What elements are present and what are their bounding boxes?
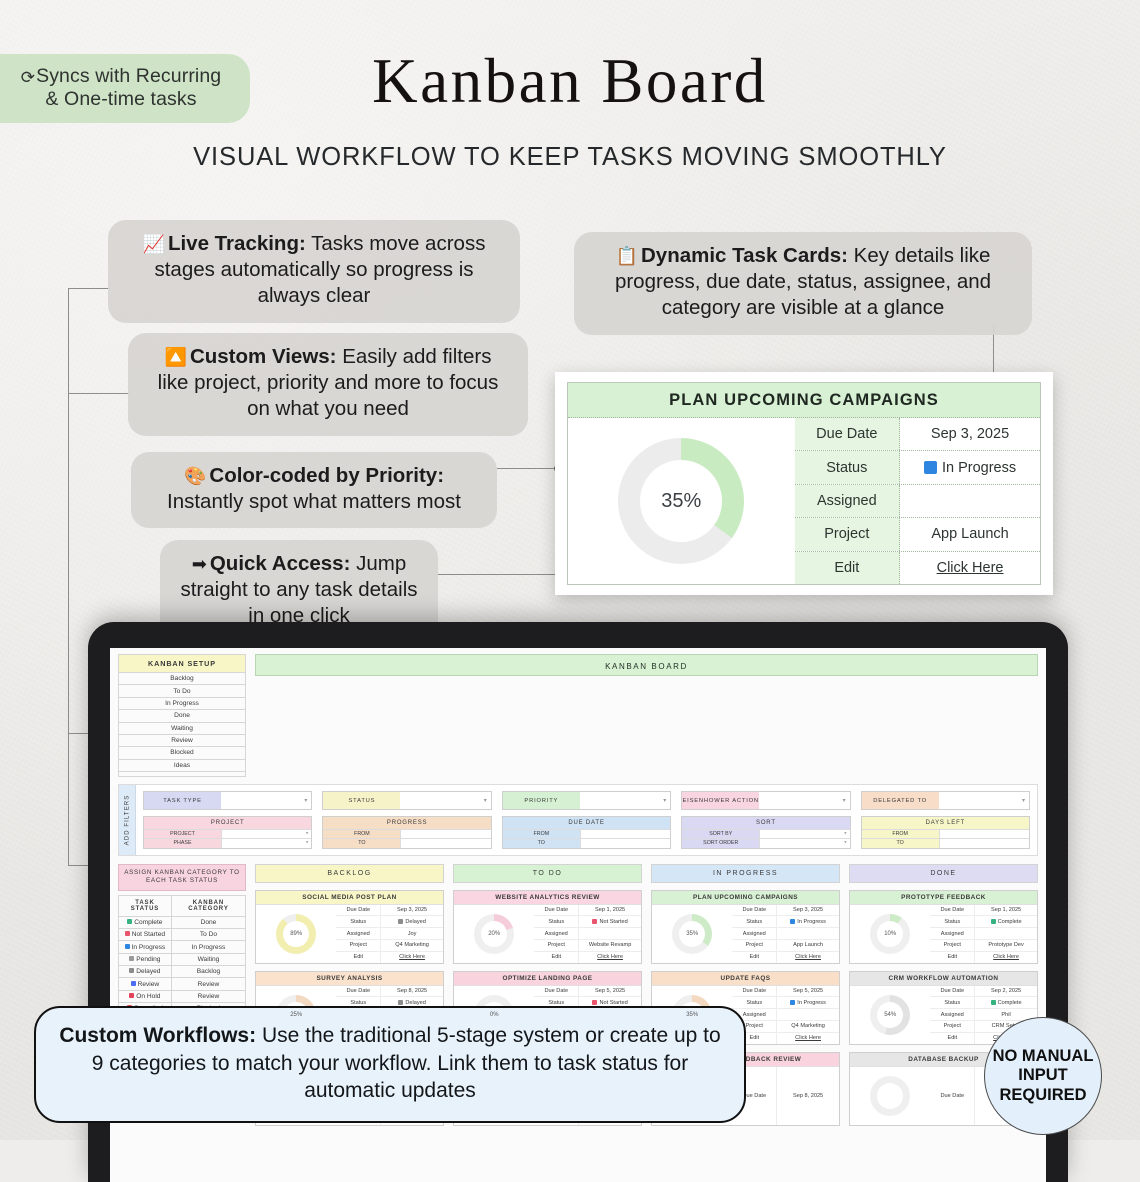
task-card-row: Due DateSep 2, 2025 <box>930 986 1037 997</box>
arrow-right-circle-icon: ➡ <box>192 554 207 574</box>
task-card-value: In Progress <box>777 916 839 927</box>
task-progress-ring: 20% <box>474 914 514 954</box>
task-progress-value: 35% <box>672 914 712 954</box>
filter-subrow[interactable]: TO <box>503 838 670 848</box>
filter-subrow-input[interactable] <box>939 830 1029 839</box>
filter-subrow[interactable]: TO <box>862 838 1029 848</box>
task-card-value: Sep 8, 2025 <box>777 1067 839 1125</box>
task-card-value: Complete <box>975 916 1037 927</box>
filter-subrow[interactable]: FROM <box>503 829 670 839</box>
task-progress-value: 10% <box>870 914 910 954</box>
task-card-row: Due DateSep 5, 2025 <box>534 986 641 997</box>
featured-card-key: Edit <box>795 552 901 584</box>
task-card-row: ProjectQ4 Marketing <box>732 1020 839 1032</box>
callout-color-coded-body: Instantly spot what matters most <box>167 490 461 513</box>
filter-status[interactable]: STATUS <box>322 791 491 810</box>
status-swatch-icon <box>790 919 795 924</box>
callout-custom-views: 🔼Custom Views: Easily add filters like p… <box>128 333 528 436</box>
filter-subrow-input[interactable] <box>759 839 849 848</box>
task-card-value-text: Q4 Marketing <box>791 1023 825 1029</box>
task-card-title: PROTOTYPE FEEDBACK <box>850 891 1037 905</box>
filter-subrow[interactable]: PROJECT <box>144 829 311 839</box>
connector-line-live <box>68 288 110 289</box>
task-card-value[interactable]: Click Here <box>777 952 839 963</box>
task-card-key: Project <box>534 940 579 951</box>
filter-subrow-label: FROM <box>323 830 400 839</box>
kanban-board-banner: KANBAN BOARD <box>255 654 1038 676</box>
task-card-key: Due Date <box>534 986 579 997</box>
table-row[interactable]: CompleteDone <box>119 916 246 928</box>
filter-subrow[interactable]: TO <box>323 838 490 848</box>
task-card-row: Due DateSep 1, 2025 <box>930 905 1037 916</box>
status-swatch-icon <box>131 981 136 986</box>
task-card-row: StatusIn Progress <box>732 996 839 1008</box>
filter-subrow-label: SORT BY <box>682 830 759 839</box>
task-card-key: Status <box>534 916 579 927</box>
task-card-row: StatusComplete <box>930 915 1037 927</box>
filter-group-project[interactable]: PROJECTPROJECTPHASE <box>143 816 312 848</box>
task-card-body: 20%Due DateSep 1, 2025StatusNot StartedA… <box>454 905 641 963</box>
table-row[interactable]: In Progress <box>119 697 246 709</box>
filter-subrow-input[interactable] <box>580 839 670 848</box>
bar-chart-icon: 📈 <box>143 234 165 254</box>
filter-subrow-label: PROJECT <box>144 830 221 839</box>
task-card-gauge: 89% <box>256 905 336 963</box>
task-card-value: Joy <box>381 928 443 939</box>
featured-card-row: Assigned <box>795 485 1040 518</box>
task-progress-value: 35% <box>672 995 712 1035</box>
task-card-table: Due DateSep 1, 2025StatusCompleteAssigne… <box>930 905 1037 963</box>
filter-group-label: PROGRESS <box>323 817 490 828</box>
task-card-row: ProjectPrototype Dev <box>930 939 1037 951</box>
status-swatch-icon <box>125 944 130 949</box>
filter-task-type[interactable]: TASK TYPE <box>143 791 312 810</box>
filter-group-sort[interactable]: SORTSORT BYSORT ORDER <box>681 816 850 848</box>
featured-card-row: ProjectApp Launch <box>795 518 1040 551</box>
kanban-setup-item[interactable]: Waiting <box>119 722 246 734</box>
task-card-key: Edit <box>732 952 777 963</box>
task-card-table: Due DateSep 5, 2025StatusIn ProgressAssi… <box>732 986 839 1044</box>
task-card-value-text: Sep 3, 2025 <box>793 907 823 913</box>
callout-live-tracking: 📈Live Tracking: Tasks move across stages… <box>108 220 520 323</box>
featured-card-value-text: Sep 3, 2025 <box>931 426 1009 442</box>
kanban-category-cell[interactable]: Review <box>171 978 245 990</box>
task-card-key: Project <box>930 940 975 951</box>
filter-subrow[interactable]: FROM <box>862 829 1029 839</box>
kanban-setup-item[interactable]: Review <box>119 734 246 746</box>
no-manual-input-badge: NO MANUAL INPUT REQUIRED <box>984 1017 1102 1135</box>
palette-icon: 🎨 <box>184 466 206 486</box>
kanban-setup-item[interactable] <box>119 772 246 777</box>
task-progress-ring <box>672 1076 712 1116</box>
table-row[interactable]: In ProgressIn Progress <box>119 941 246 953</box>
edit-link[interactable]: Click Here <box>795 1035 821 1041</box>
task-card-value-text: Sep 2, 2025 <box>991 988 1021 994</box>
task-card-body: 10%Due DateSep 1, 2025StatusCompleteAssi… <box>850 905 1037 963</box>
featured-card-key: Assigned <box>795 485 901 517</box>
task-card-value-text: Sep 3, 2025 <box>397 907 427 913</box>
task-card-value: Delayed <box>381 916 443 927</box>
task-status-cell: Pending <box>119 953 172 965</box>
status-swatch-icon <box>129 993 134 998</box>
filter-subrow-input[interactable] <box>759 830 849 839</box>
task-card-value-text: Sep 8, 2025 <box>793 1093 823 1099</box>
task-card-value-text: Sep 5, 2025 <box>793 988 823 994</box>
filter-label: PRIORITY <box>503 792 580 809</box>
task-card-value-text: Phil <box>1001 1012 1010 1018</box>
task-card-key: Due Date <box>336 905 381 916</box>
edit-link[interactable]: Click Here <box>399 954 425 960</box>
status-swatch-icon <box>592 919 597 924</box>
task-card-value: Q4 Marketing <box>777 1021 839 1032</box>
task-card-key: Project <box>930 1021 975 1032</box>
task-card-row: Due DateSep 1, 2025 <box>534 905 641 916</box>
status-swatch-icon <box>398 1000 403 1005</box>
task-card-gauge: 54% <box>850 986 930 1044</box>
task-card-value[interactable]: Click Here <box>579 952 641 963</box>
task-card-value: Sep 5, 2025 <box>579 986 641 997</box>
filter-subrow-label: TO <box>323 839 400 848</box>
progress-value: 35% <box>618 438 744 564</box>
task-card-value-text: Joy <box>408 931 417 937</box>
task-card-key: Assigned <box>930 928 975 939</box>
task-card-key: Status <box>732 997 777 1008</box>
filter-subrow-input[interactable] <box>939 839 1029 848</box>
task-card-value: Complete <box>975 997 1037 1008</box>
featured-card-value <box>900 485 1040 517</box>
task-card-value: Sep 3, 2025 <box>381 905 443 916</box>
table-row[interactable] <box>119 772 246 777</box>
filter-group-progress[interactable]: PROGRESSFROMTO <box>322 816 491 848</box>
kanban-category-cell[interactable]: In Progress <box>171 941 245 953</box>
task-progress-value <box>870 1076 910 1116</box>
task-card-key: Edit <box>534 952 579 963</box>
table-row[interactable]: ReviewReview <box>119 978 246 990</box>
custom-workflows-title: Custom Workflows: <box>59 1024 256 1047</box>
filter-subrow-label: TO <box>503 839 580 848</box>
assign-category-header: ASSIGN KANBAN CATEGORY TO EACH TASK STAT… <box>118 864 246 891</box>
task-card-value-text: Delayed <box>405 919 426 925</box>
filter-subrow-label: PHASE <box>144 839 221 848</box>
task-card-value: Sep 5, 2025 <box>777 986 839 997</box>
table-row[interactable]: To Do <box>119 685 246 697</box>
table-row[interactable]: Waiting <box>119 722 246 734</box>
filter-subrow[interactable]: SORT BY <box>682 829 849 839</box>
task-card-value-text: Complete <box>998 919 1022 925</box>
filter-subrow-input[interactable] <box>400 830 490 839</box>
task-progress-value: 89% <box>276 914 316 954</box>
status-swatch-icon <box>129 968 134 973</box>
featured-card-inner: PLAN UPCOMING CAMPAIGNS 35% Due DateSep … <box>567 382 1041 585</box>
filter-subrow-input[interactable] <box>580 830 670 839</box>
task-card-value: Sep 1, 2025 <box>579 905 641 916</box>
task-card-table: Due DateSep 8, 2025 <box>732 1067 839 1125</box>
task-card-value: Not Started <box>579 916 641 927</box>
add-filters-label: ADD FILTERS <box>119 785 136 854</box>
task-progress-value <box>276 1076 316 1116</box>
featured-card-detail-table: Due DateSep 3, 2025StatusIn ProgressAssi… <box>795 418 1040 584</box>
task-progress-ring: 10% <box>870 914 910 954</box>
task-card-row: StatusDelayed <box>336 915 443 927</box>
table-row[interactable]: Blocked <box>119 747 246 759</box>
task-card-row: ProjectWebsite Revamp <box>534 939 641 951</box>
filter-subrow[interactable]: FROM <box>323 829 490 839</box>
task-card-row: Assigned <box>732 1008 839 1020</box>
task-card-value-text: Complete <box>998 1000 1022 1006</box>
task-card-value-text: Not Started <box>599 919 627 925</box>
task-card-gauge: 20% <box>454 905 534 963</box>
task-card-value <box>975 928 1037 939</box>
task-card-row: Due DateSep 8, 2025 <box>336 986 443 997</box>
filter-group-days-left[interactable]: DAYS LEFTFROMTO <box>861 816 1030 848</box>
task-card-value <box>579 928 641 939</box>
status-swatch-icon <box>924 461 937 474</box>
task-card-key: Assigned <box>336 928 381 939</box>
callout-dynamic-title: Dynamic Task Cards: <box>641 244 848 267</box>
task-card-value: Sep 2, 2025 <box>975 986 1037 997</box>
callout-color-coded-title-wrap: 🎨Color-coded by Priority: <box>150 463 478 489</box>
task-card-key: Due Date <box>732 905 777 916</box>
task-status-cell: Review <box>119 978 172 990</box>
kanban-column-header: BACKLOG <box>255 864 444 883</box>
page-subtitle: VISUAL WORKFLOW TO KEEP TASKS MOVING SMO… <box>0 143 1140 172</box>
no-input-line1: NO MANUAL <box>993 1047 1094 1066</box>
filter-subrow-label: SORT ORDER <box>682 839 759 848</box>
table-row[interactable]: Backlog <box>119 673 246 685</box>
funnel-icon: 🔼 <box>165 347 187 367</box>
filter-subrow-input[interactable] <box>221 839 311 848</box>
edit-link[interactable]: Click Here <box>597 954 623 960</box>
callout-dynamic-task-cards: 📋Dynamic Task Cards: Key details like pr… <box>574 232 1032 335</box>
task-card-row: Assigned <box>534 927 641 939</box>
task-progress-ring: 89% <box>276 914 316 954</box>
task-card-table: Due DateSep 3, 2025StatusIn ProgressAssi… <box>732 905 839 963</box>
kanban-setup-item[interactable]: Blocked <box>119 747 246 759</box>
task-card-value-text: Sep 8, 2025 <box>397 988 427 994</box>
task-progress-ring: 25% <box>276 995 316 1035</box>
edit-link[interactable]: Click Here <box>795 954 821 960</box>
task-card-title: SURVEY ANALYSIS <box>256 972 443 986</box>
task-progress-ring <box>870 1076 910 1116</box>
table-row[interactable]: Review <box>119 734 246 746</box>
featured-card-key: Status <box>795 451 901 483</box>
task-card-value[interactable]: Click Here <box>777 1033 839 1044</box>
task-card-value-text: In Progress <box>797 1000 826 1006</box>
callout-color-coded: 🎨Color-coded by Priority: Instantly spot… <box>131 452 497 528</box>
task-card-key: Due Date <box>930 986 975 997</box>
task-progress-ring <box>474 1076 514 1116</box>
task-progress-ring: 35% <box>672 914 712 954</box>
featured-card-body: 35% Due DateSep 3, 2025StatusIn Progress… <box>568 418 1040 584</box>
kanban-setup-item[interactable]: Backlog <box>119 673 246 685</box>
custom-workflows-banner: Custom Workflows: Use the traditional 5-… <box>34 1006 746 1123</box>
task-card-row: ProjectApp Launch <box>732 939 839 951</box>
task-status-cell: Delayed <box>119 966 172 978</box>
kanban-setup-item[interactable]: To Do <box>119 685 246 697</box>
task-card-table: Due DateSep 3, 2025StatusDelayedAssigned… <box>336 905 443 963</box>
task-card-key: Assigned <box>732 928 777 939</box>
task-card-row: StatusIn Progress <box>732 915 839 927</box>
table-row: TASK STATUSKANBAN CATEGORY <box>119 895 246 916</box>
kanban-setup-item[interactable]: Done <box>119 710 246 722</box>
task-card-key: Assigned <box>534 928 579 939</box>
filter-group-label: DAYS LEFT <box>862 817 1029 828</box>
kanban-column-header: TO DO <box>453 864 642 883</box>
task-card-gauge: 10% <box>850 905 930 963</box>
task-card-key: Due Date <box>930 905 975 916</box>
kanban-category-cell[interactable]: Done <box>171 916 245 928</box>
task-card-row: Due DateSep 3, 2025 <box>732 905 839 916</box>
kanban-category-cell[interactable]: Backlog <box>171 966 245 978</box>
filters-row-primary: TASK TYPESTATUSPRIORITYEISENHOWER ACTION… <box>143 791 1030 810</box>
filter-dropdown[interactable] <box>759 792 849 809</box>
filter-group-label: PROJECT <box>144 817 311 828</box>
task-card-value-text: Q4 Marketing <box>395 942 429 948</box>
task-status-cell: In Progress <box>119 941 172 953</box>
no-input-line3: REQUIRED <box>993 1086 1094 1105</box>
task-card[interactable]: PROTOTYPE FEEDBACK10%Due DateSep 1, 2025… <box>849 890 1038 964</box>
filter-label: STATUS <box>323 792 400 809</box>
task-progress-value: 25% <box>276 995 316 1035</box>
filter-subrow-input[interactable] <box>221 830 311 839</box>
task-card-value-text: Delayed <box>405 1000 426 1006</box>
task-card-key: Status <box>930 997 975 1008</box>
task-card[interactable]: WEBSITE ANALYTICS REVIEW20%Due DateSep 1… <box>453 890 642 964</box>
task-card-body: 89%Due DateSep 3, 2025StatusDelayedAssig… <box>256 905 443 963</box>
task-card-value <box>777 1009 839 1020</box>
filter-priority[interactable]: PRIORITY <box>502 791 671 810</box>
task-card-value-text: Not Started <box>599 1000 627 1006</box>
task-card-value-text: Website Revamp <box>589 942 632 948</box>
task-card-value: Website Revamp <box>579 940 641 951</box>
kanban-setup-item[interactable]: Ideas <box>119 759 246 771</box>
kanban-category-cell[interactable]: To Do <box>171 928 245 940</box>
task-card-body: 35%Due DateSep 3, 2025StatusIn ProgressA… <box>652 905 839 963</box>
kanban-setup-item[interactable]: In Progress <box>119 697 246 709</box>
task-card-title: SOCIAL MEDIA POST PLAN <box>256 891 443 905</box>
task-card[interactable]: PLAN UPCOMING CAMPAIGNS35%Due DateSep 3,… <box>651 890 840 964</box>
kanban-category-cell[interactable]: Waiting <box>171 953 245 965</box>
featured-card-value-text: App Launch <box>931 526 1008 542</box>
task-card-title: OPTIMIZE LANDING PAGE <box>454 972 641 986</box>
task-card-title: CRM WORKFLOW AUTOMATION <box>850 972 1037 986</box>
task-card-table: Due DateSep 1, 2025StatusNot StartedAssi… <box>534 905 641 963</box>
featured-card-row: EditClick Here <box>795 552 1040 584</box>
table-row[interactable]: On HoldReview <box>119 990 246 1002</box>
featured-task-card: PLAN UPCOMING CAMPAIGNS 35% Due DateSep … <box>555 372 1053 595</box>
filter-delegated-to[interactable]: DELEGATED TO <box>861 791 1030 810</box>
task-card-key: Due Date <box>930 1067 975 1125</box>
task-progress-value: 54% <box>870 995 910 1035</box>
featured-card-value: App Launch <box>900 518 1040 550</box>
task-card-value[interactable]: Click Here <box>975 952 1037 963</box>
table-row[interactable]: PendingWaiting <box>119 953 246 965</box>
table-row[interactable]: Done <box>119 710 246 722</box>
featured-card-value-text: In Progress <box>942 460 1016 476</box>
table-row[interactable]: Ideas <box>119 759 246 771</box>
status-swatch-icon <box>398 919 403 924</box>
task-card-value-text: Sep 5, 2025 <box>595 988 625 994</box>
kanban-column-header: IN PROGRESS <box>651 864 840 883</box>
filter-group-label: SORT <box>682 817 849 828</box>
filter-label: DELEGATED TO <box>862 792 939 809</box>
connector-line-vertical <box>68 288 69 866</box>
filter-label: EISENHOWER ACTION <box>682 792 759 809</box>
task-card-value: Q4 Marketing <box>381 940 443 951</box>
task-card-value-text: Prototype Dev <box>988 942 1023 948</box>
task-card-key: Due Date <box>336 986 381 997</box>
table-row[interactable]: DelayedBacklog <box>119 966 246 978</box>
featured-card-key: Due Date <box>795 418 901 450</box>
kanban-setup-table: KANBAN SETUPBacklogTo DoIn ProgressDoneW… <box>118 654 246 777</box>
task-card-row: Due DateSep 5, 2025 <box>732 986 839 997</box>
callout-live-tracking-title: Live Tracking: <box>168 232 306 255</box>
task-card-row: StatusComplete <box>930 996 1037 1008</box>
task-progress-value <box>672 1076 712 1116</box>
task-card-value: App Launch <box>777 940 839 951</box>
task-card-key: Edit <box>336 952 381 963</box>
task-card-key: Due Date <box>732 986 777 997</box>
filter-dropdown[interactable] <box>939 792 1029 809</box>
filter-subrow[interactable]: PHASE <box>144 838 311 848</box>
task-card-row: AssignedJoy <box>336 927 443 939</box>
filter-subrow[interactable]: SORT ORDER <box>682 838 849 848</box>
task-card-value-text: Sep 1, 2025 <box>991 907 1021 913</box>
task-card-value: Sep 1, 2025 <box>975 905 1037 916</box>
filter-subrow-label: FROM <box>862 830 939 839</box>
add-filters-text: ADD FILTERS <box>124 795 130 846</box>
task-card-title: WEBSITE ANALYTICS REVIEW <box>454 891 641 905</box>
status-table-header: TASK STATUS <box>119 895 172 916</box>
task-progress-ring: 0% <box>474 995 514 1035</box>
no-input-line2: INPUT <box>993 1066 1094 1085</box>
task-card-key: Edit <box>930 952 975 963</box>
task-progress-value: 0% <box>474 995 514 1035</box>
task-card-gauge <box>850 1067 930 1125</box>
featured-card-row: Due DateSep 3, 2025 <box>795 418 1040 451</box>
status-swatch-icon <box>991 1000 996 1005</box>
callout-quick-access-title: Quick Access: <box>210 552 351 575</box>
filters-panel: ADD FILTERS TASK TYPESTATUSPRIORITYEISEN… <box>118 784 1038 855</box>
filter-dropdown[interactable] <box>580 792 670 809</box>
filter-subrow-input[interactable] <box>400 839 490 848</box>
task-card-value[interactable]: Click Here <box>381 952 443 963</box>
table-row[interactable]: Not StartedTo Do <box>119 928 246 940</box>
kanban-category-cell[interactable]: Review <box>171 990 245 1002</box>
task-card[interactable]: SOCIAL MEDIA POST PLAN89%Due DateSep 3, … <box>255 890 444 964</box>
task-card-key: Project <box>336 940 381 951</box>
featured-card-value[interactable]: Click Here <box>900 552 1040 584</box>
filter-group-due-date[interactable]: DUE DATEFROMTO <box>502 816 671 848</box>
featured-card-key: Project <box>795 518 901 550</box>
filter-eisenhower-action[interactable]: EISENHOWER ACTION <box>681 791 850 810</box>
task-card-row: EditClick Here <box>336 951 443 963</box>
page-title: Kanban Board <box>0 45 1140 118</box>
task-card-value <box>777 928 839 939</box>
edit-link[interactable]: Click Here <box>937 560 1004 576</box>
edit-link[interactable]: Click Here <box>993 954 1019 960</box>
featured-card-title: PLAN UPCOMING CAMPAIGNS <box>568 383 1040 418</box>
task-card-row: EditClick Here <box>930 951 1037 963</box>
filter-dropdown[interactable] <box>400 792 490 809</box>
task-status-cell: On Hold <box>119 990 172 1002</box>
status-mapping-table: TASK STATUSKANBAN CATEGORY CompleteDone … <box>118 895 246 1021</box>
callout-custom-views-title: Custom Views: <box>190 345 337 368</box>
task-progress-ring <box>276 1076 316 1116</box>
progress-ring: 35% <box>618 438 744 564</box>
filter-dropdown[interactable] <box>221 792 311 809</box>
task-status-cell: Complete <box>119 916 172 928</box>
